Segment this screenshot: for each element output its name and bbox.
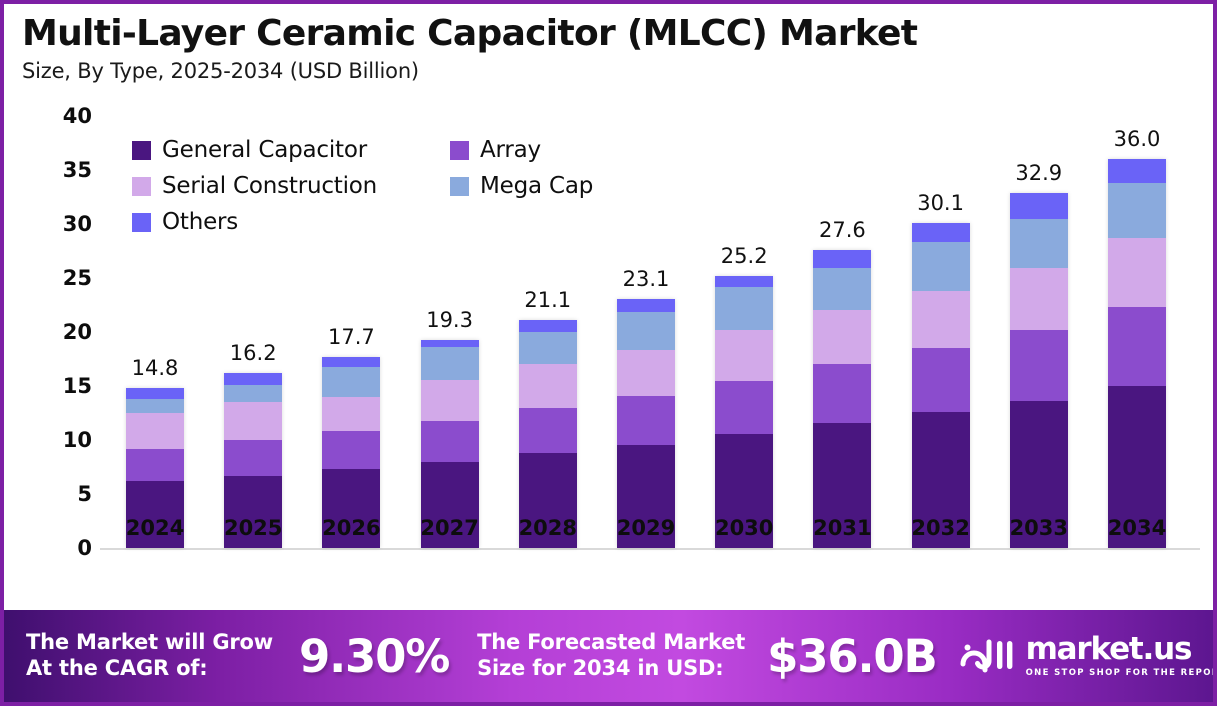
bar-group[interactable]: 27.62031 (813, 68, 871, 548)
stacked-bar[interactable] (813, 250, 871, 548)
bar-segment[interactable] (421, 380, 479, 421)
bar-segment[interactable] (912, 242, 970, 291)
bar-segment[interactable] (519, 364, 577, 407)
brand-tagline: ONE STOP SHOP FOR THE REPORTS (1026, 668, 1213, 678)
forecast-size-label: The Forecasted Market Size for 2034 in U… (477, 630, 745, 681)
bar-segment[interactable] (126, 388, 184, 399)
bar-segment[interactable] (617, 350, 675, 395)
footer-banner: The Market will Grow At the CAGR of: 9.3… (4, 610, 1213, 702)
legend-item[interactable]: General Capacitor (132, 137, 450, 163)
bar-segment[interactable] (813, 268, 871, 310)
bar-segment[interactable] (519, 320, 577, 332)
bar-segment[interactable] (912, 291, 970, 348)
bar-segment[interactable] (912, 223, 970, 242)
bar-total-label: 32.9 (1015, 161, 1062, 185)
forecast-size-value: $36.0B (767, 630, 936, 683)
bar-segment[interactable] (519, 408, 577, 453)
bar-segment[interactable] (617, 299, 675, 312)
legend-item-label: General Capacitor (162, 137, 367, 163)
page-title: Multi-Layer Ceramic Capacitor (MLCC) Mar… (22, 14, 1213, 54)
bar-group[interactable]: 23.12029 (617, 68, 675, 548)
bar-total-label: 27.6 (819, 218, 866, 242)
bar-segment[interactable] (715, 276, 773, 287)
x-axis-tick-label: 2034 (1108, 516, 1166, 540)
legend-item[interactable]: Mega Cap (450, 173, 593, 199)
bar-segment[interactable] (1108, 238, 1166, 307)
legend-item[interactable]: Others (132, 209, 450, 235)
x-axis-tick-label: 2031 (813, 516, 871, 540)
cagr-label: The Market will Grow At the CAGR of: (26, 630, 273, 681)
cagr-value: 9.30% (299, 630, 449, 683)
stacked-bar[interactable] (617, 299, 675, 548)
forecast-size-label-line1: The Forecasted Market (477, 630, 745, 656)
bar-group[interactable]: 25.22030 (715, 68, 773, 548)
legend-swatch-icon (132, 177, 151, 196)
infographic-frame: Multi-Layer Ceramic Capacitor (MLCC) Mar… (0, 0, 1217, 706)
legend-swatch-icon (450, 177, 469, 196)
stacked-bar[interactable] (1108, 159, 1166, 548)
legend-item[interactable]: Serial Construction (132, 173, 450, 199)
bar-group[interactable]: 32.92033 (1010, 68, 1068, 548)
bar-segment[interactable] (813, 310, 871, 364)
stacked-bar[interactable] (1010, 193, 1068, 548)
bar-segment[interactable] (912, 348, 970, 412)
bar-segment[interactable] (322, 367, 380, 397)
x-axis-tick-label: 2029 (617, 516, 675, 540)
bar-segment[interactable] (224, 373, 282, 385)
bar-segment[interactable] (617, 396, 675, 446)
bar-segment[interactable] (421, 421, 479, 462)
x-axis-tick-label: 2026 (322, 516, 380, 540)
bar-segment[interactable] (715, 287, 773, 330)
bar-segment[interactable] (1010, 330, 1068, 401)
brand-name: market.us (1026, 634, 1213, 665)
bar-segment[interactable] (126, 449, 184, 481)
bar-segment[interactable] (322, 357, 380, 367)
legend-item-label: Array (480, 137, 541, 163)
legend-swatch-icon (132, 213, 151, 232)
x-axis-tick-label: 2033 (1010, 516, 1068, 540)
bar-total-label: 23.1 (623, 267, 670, 291)
bar-segment[interactable] (224, 385, 282, 402)
x-axis-tick-label: 2027 (420, 516, 478, 540)
legend-item-label: Serial Construction (162, 173, 377, 199)
x-axis-tick-label: 2030 (715, 516, 773, 540)
legend-item-label: Others (162, 209, 238, 235)
bar-total-label: 19.3 (426, 308, 473, 332)
legend-swatch-icon (450, 141, 469, 160)
x-axis-tick-label: 2028 (519, 516, 577, 540)
bar-segment[interactable] (1108, 159, 1166, 183)
bar-segment[interactable] (322, 431, 380, 469)
bar-total-label: 25.2 (721, 244, 768, 268)
bar-segment[interactable] (813, 364, 871, 422)
bar-segment[interactable] (224, 440, 282, 476)
bar-segment[interactable] (715, 381, 773, 434)
bar-segment[interactable] (519, 332, 577, 364)
cagr-label-line2: At the CAGR of: (26, 656, 273, 682)
legend-item[interactable]: Array (450, 137, 593, 163)
bar-segment[interactable] (1010, 219, 1068, 269)
market-us-logo-icon (959, 634, 1017, 678)
bar-segment[interactable] (322, 397, 380, 432)
bar-segment[interactable] (126, 399, 184, 413)
bar-total-label: 16.2 (230, 341, 277, 365)
bar-group[interactable]: 30.12032 (912, 68, 970, 548)
x-axis-tick-label: 2025 (224, 516, 282, 540)
brand-text: market.us ONE STOP SHOP FOR THE REPORTS (1026, 634, 1213, 678)
bar-total-label: 17.7 (328, 325, 375, 349)
chart-legend: General CapacitorArraySerial Constructio… (132, 132, 593, 240)
cagr-label-line1: The Market will Grow (26, 630, 273, 656)
forecast-size-label-line2: Size for 2034 in USD: (477, 656, 745, 682)
bar-segment[interactable] (126, 413, 184, 449)
stacked-bar[interactable] (912, 223, 970, 548)
bar-segment[interactable] (1010, 268, 1068, 330)
bar-segment[interactable] (421, 347, 479, 379)
bar-segment[interactable] (421, 340, 479, 348)
stacked-bar[interactable] (519, 320, 577, 548)
stacked-bar[interactable] (715, 276, 773, 548)
bar-segment[interactable] (813, 250, 871, 268)
legend-swatch-icon (132, 141, 151, 160)
bar-group[interactable]: 36.02034 (1108, 68, 1166, 548)
x-axis-tick-label: 2024 (126, 516, 184, 540)
bar-segment[interactable] (1108, 183, 1166, 238)
bar-total-label: 30.1 (917, 191, 964, 215)
bar-segment[interactable] (1108, 307, 1166, 386)
bar-segment[interactable] (617, 312, 675, 351)
bar-segment[interactable] (1010, 193, 1068, 219)
bar-segment[interactable] (715, 330, 773, 381)
bar-segment[interactable] (224, 402, 282, 440)
legend-item-label: Mega Cap (480, 173, 593, 199)
bar-total-label: 14.8 (132, 356, 179, 380)
brand-logo[interactable]: market.us ONE STOP SHOP FOR THE REPORTS (959, 634, 1213, 678)
bar-total-label: 36.0 (1114, 127, 1161, 151)
x-axis-tick-label: 2032 (911, 516, 969, 540)
bar-total-label: 21.1 (524, 288, 571, 312)
